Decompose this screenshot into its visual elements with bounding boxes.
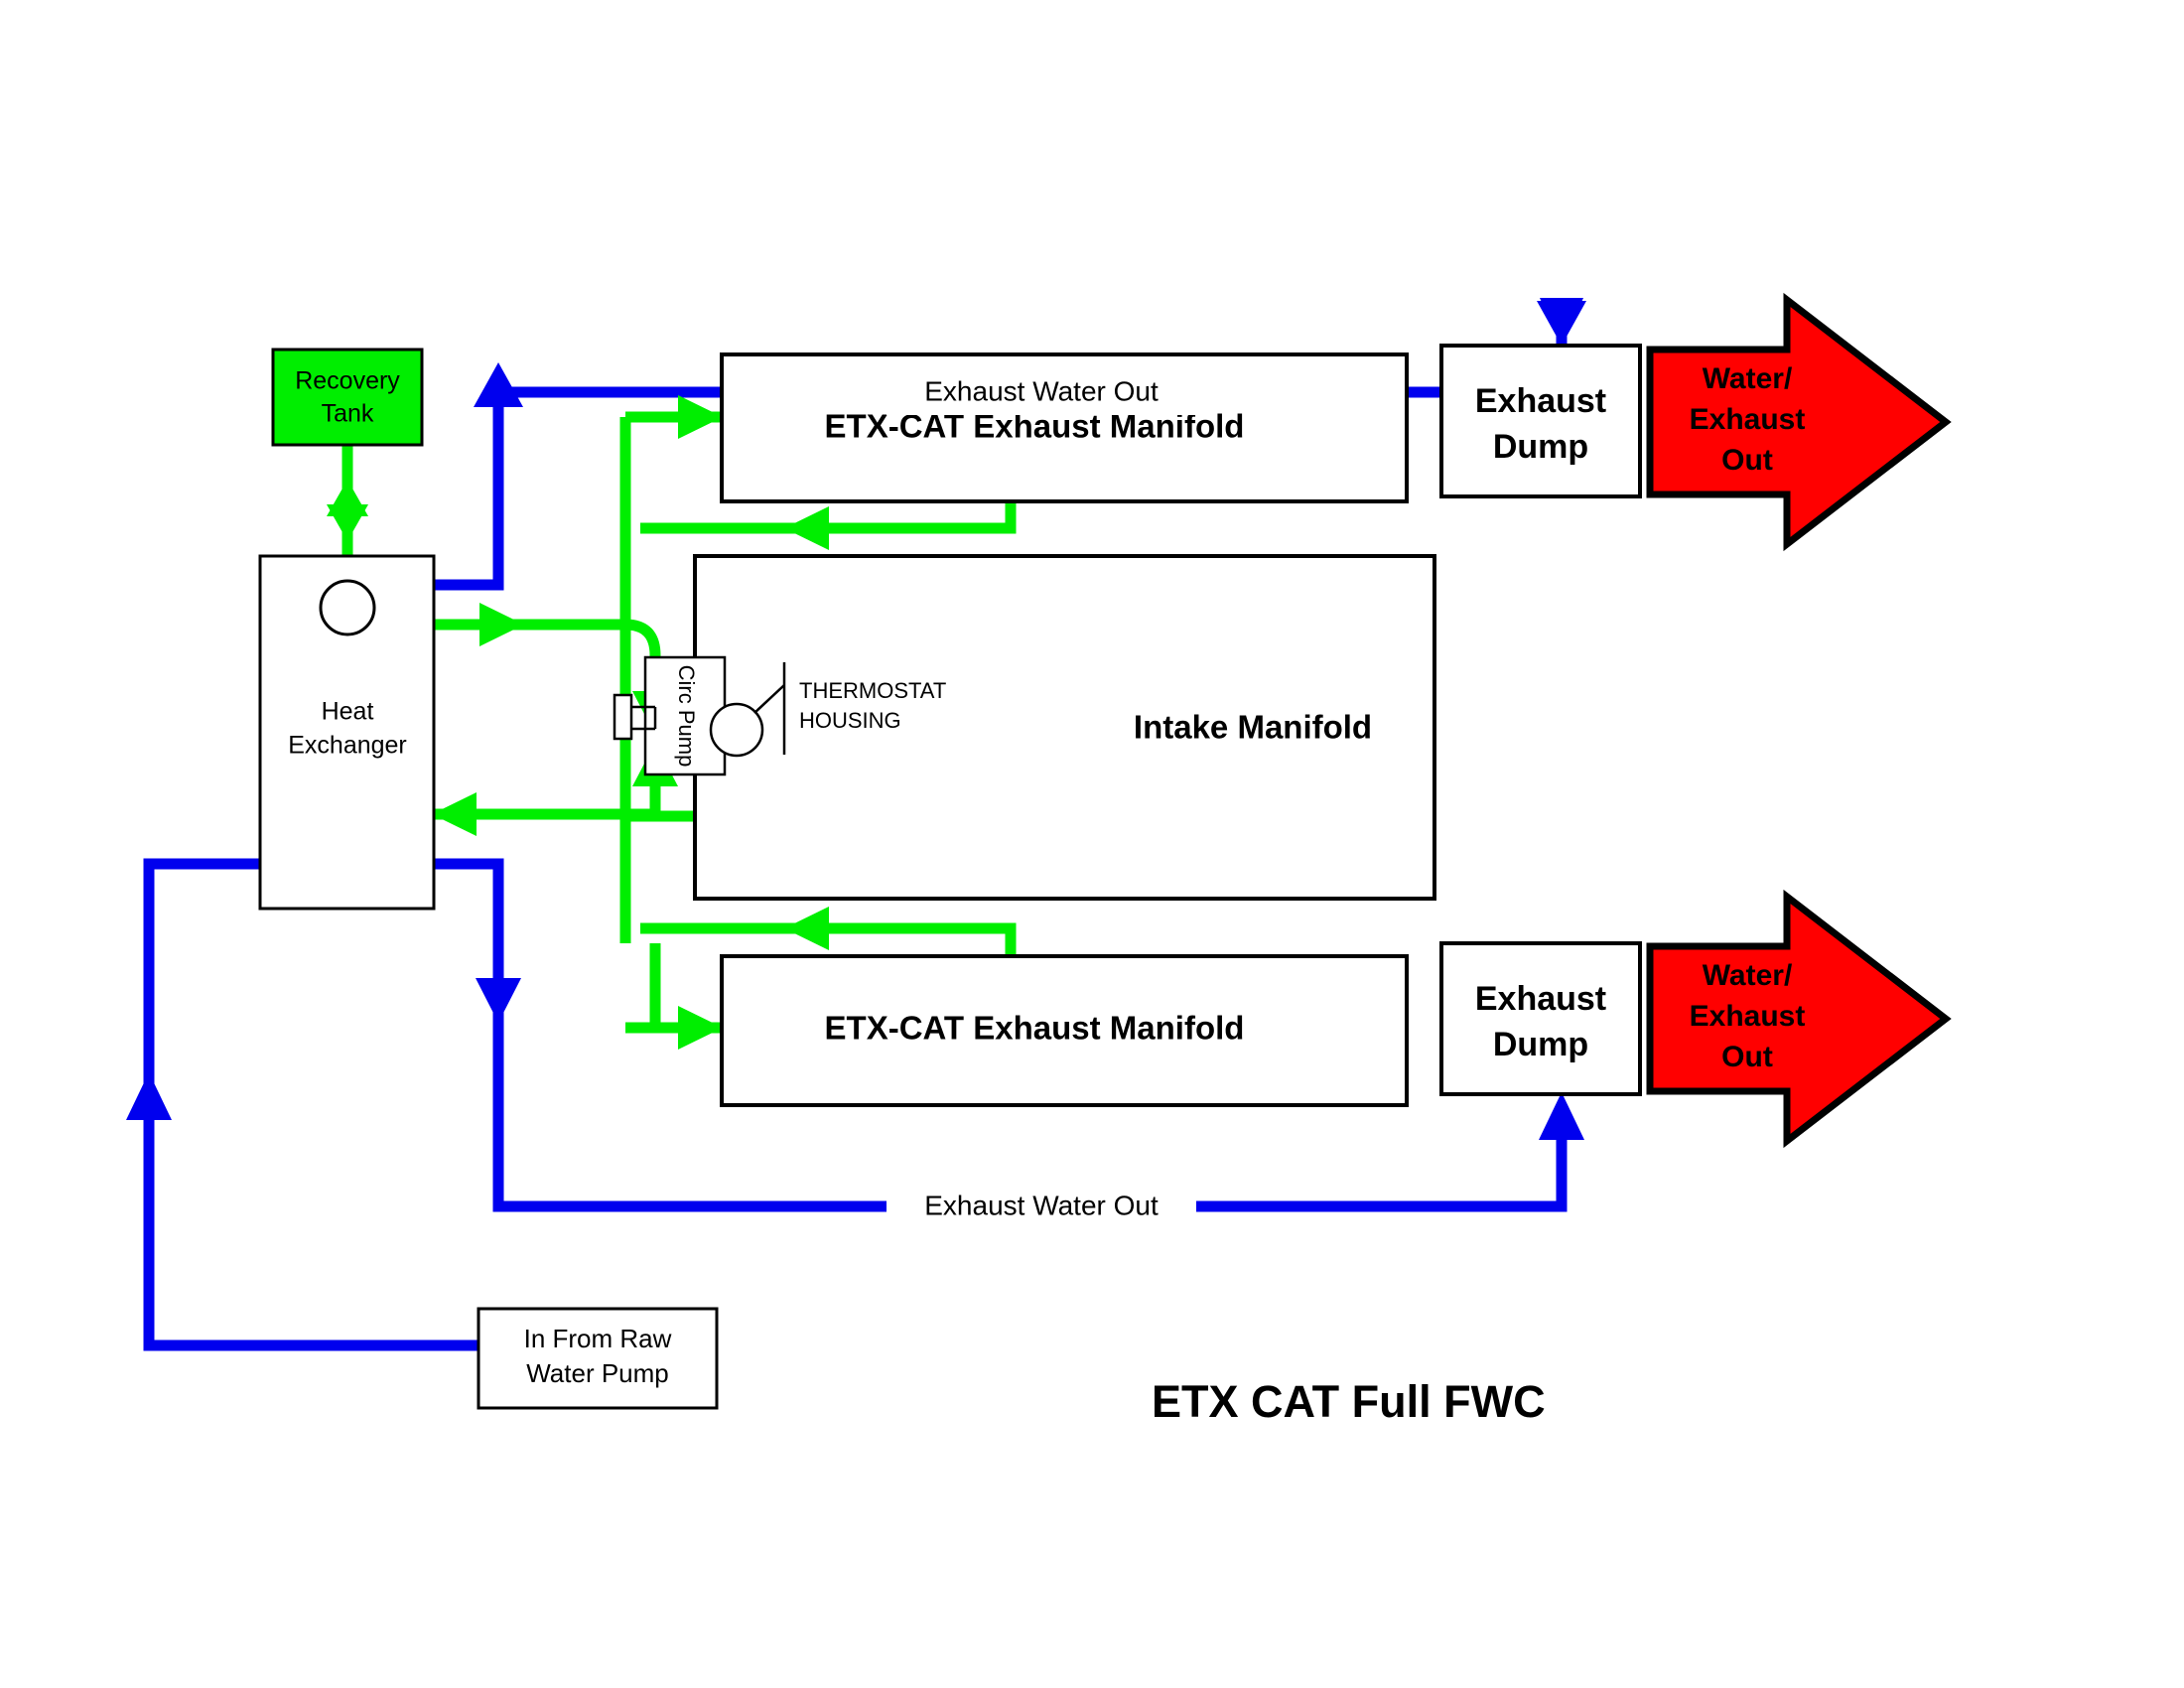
pipe-raw-water-inlet-run <box>149 864 477 1345</box>
circ-pump-block[interactable]: Circ Pump <box>614 657 725 774</box>
arrow-green-bottom-return <box>784 907 829 950</box>
arrow-blue-raw-water-riser-up <box>126 1072 172 1120</box>
heat-exchanger-label-line2: Exchanger <box>288 732 407 760</box>
heat-exchanger-fill-cap-icon <box>321 581 374 634</box>
heat-exchanger-block[interactable]: Heat Exchanger <box>260 556 434 909</box>
discharge-arrow-top-line3: Out <box>1721 444 1773 477</box>
arrow-blue-riser-up <box>474 362 523 407</box>
exhaust-dump-bottom-label-line1: Exhaust <box>1475 980 1606 1018</box>
exhaust-dump-bottom-rect[interactable] <box>1441 943 1640 1094</box>
recovery-tank-rect[interactable] <box>273 350 422 445</box>
exhaust-dump-top-rect[interactable] <box>1441 346 1640 496</box>
discharge-arrow-top-line1: Water/ <box>1703 362 1793 395</box>
exhaust-manifold-bottom-label: ETX-CAT Exhaust Manifold <box>825 1010 1245 1047</box>
raw-water-inlet-label-line1: In From Raw <box>524 1324 672 1353</box>
arrow-green-into-bottom-exh-manifold <box>678 1006 723 1050</box>
recovery-tank-label-line1: Recovery <box>295 367 400 395</box>
discharge-arrow-bottom-line2: Exhaust <box>1690 1000 1806 1033</box>
heat-exchanger-label-line1: Heat <box>322 698 374 726</box>
discharge-arrow-bottom-line1: Water/ <box>1703 959 1793 992</box>
raw-water-inlet-block[interactable]: In From Raw Water Pump <box>478 1309 717 1408</box>
diagram-title: ETX CAT Full FWC <box>1152 1376 1546 1427</box>
arrow-green-top-return <box>784 506 829 550</box>
exhaust-dump-bottom-block[interactable]: Exhaust Dump <box>1441 943 1640 1094</box>
pipe-bottom-exhaust-water-out-right <box>1191 1107 1562 1206</box>
discharge-arrow-bottom-line3: Out <box>1721 1041 1773 1073</box>
recovery-tank-label-line2: Tank <box>322 400 374 428</box>
arrow-green-hx-outlet <box>479 603 524 646</box>
intake-manifold-label: Intake Manifold <box>1134 709 1372 746</box>
exhaust-dump-top-label-line2: Dump <box>1493 428 1588 466</box>
pump-valve-icon <box>614 695 631 739</box>
arrow-green-recovery-down <box>327 504 368 541</box>
exhaust-manifold-bottom-block[interactable]: ETX-CAT Exhaust Manifold <box>722 956 1407 1105</box>
discharge-arrow-top: Water/ Exhaust Out <box>1650 300 1946 544</box>
arrow-blue-top-dump-head <box>1540 298 1583 346</box>
circ-pump-label: Circ Pump <box>674 665 699 768</box>
exhaust-water-out-bottom-label: Exhaust Water Out <box>924 1190 1159 1220</box>
discharge-arrow-bottom: Water/ Exhaust Out <box>1650 897 1946 1141</box>
etx-cat-fwc-schematic: Recovery Tank Heat Exchanger ETX-CAT Exh… <box>0 0 2184 1688</box>
thermostat-housing-label-line2: HOUSING <box>799 708 901 733</box>
arrow-blue-into-bottom-exhaust-dump <box>1539 1092 1584 1140</box>
exhaust-dump-bottom-label-line2: Dump <box>1493 1026 1588 1063</box>
exhaust-water-out-top-label: Exhaust Water Out <box>924 375 1159 406</box>
recovery-tank-block[interactable]: Recovery Tank <box>273 350 422 445</box>
thermostat-housing-label-line1: THERMOSTAT <box>799 678 946 703</box>
pipe-label-bottom: Exhaust Water Out <box>887 1184 1196 1229</box>
arrow-green-return-to-hx <box>432 792 477 836</box>
diagram-canvas: Recovery Tank Heat Exchanger ETX-CAT Exh… <box>0 0 2184 1688</box>
arrow-green-into-top-exh-manifold <box>678 395 723 439</box>
exhaust-dump-top-block[interactable]: Exhaust Dump <box>1441 346 1640 496</box>
exhaust-dump-top-label-line1: Exhaust <box>1475 382 1606 420</box>
discharge-arrow-top-line2: Exhaust <box>1690 403 1806 436</box>
raw-water-inlet-label-line2: Water Pump <box>526 1358 669 1388</box>
arrow-blue-downcomer-down <box>476 978 521 1023</box>
pipe-label-top: Exhaust Water Out <box>887 369 1196 415</box>
